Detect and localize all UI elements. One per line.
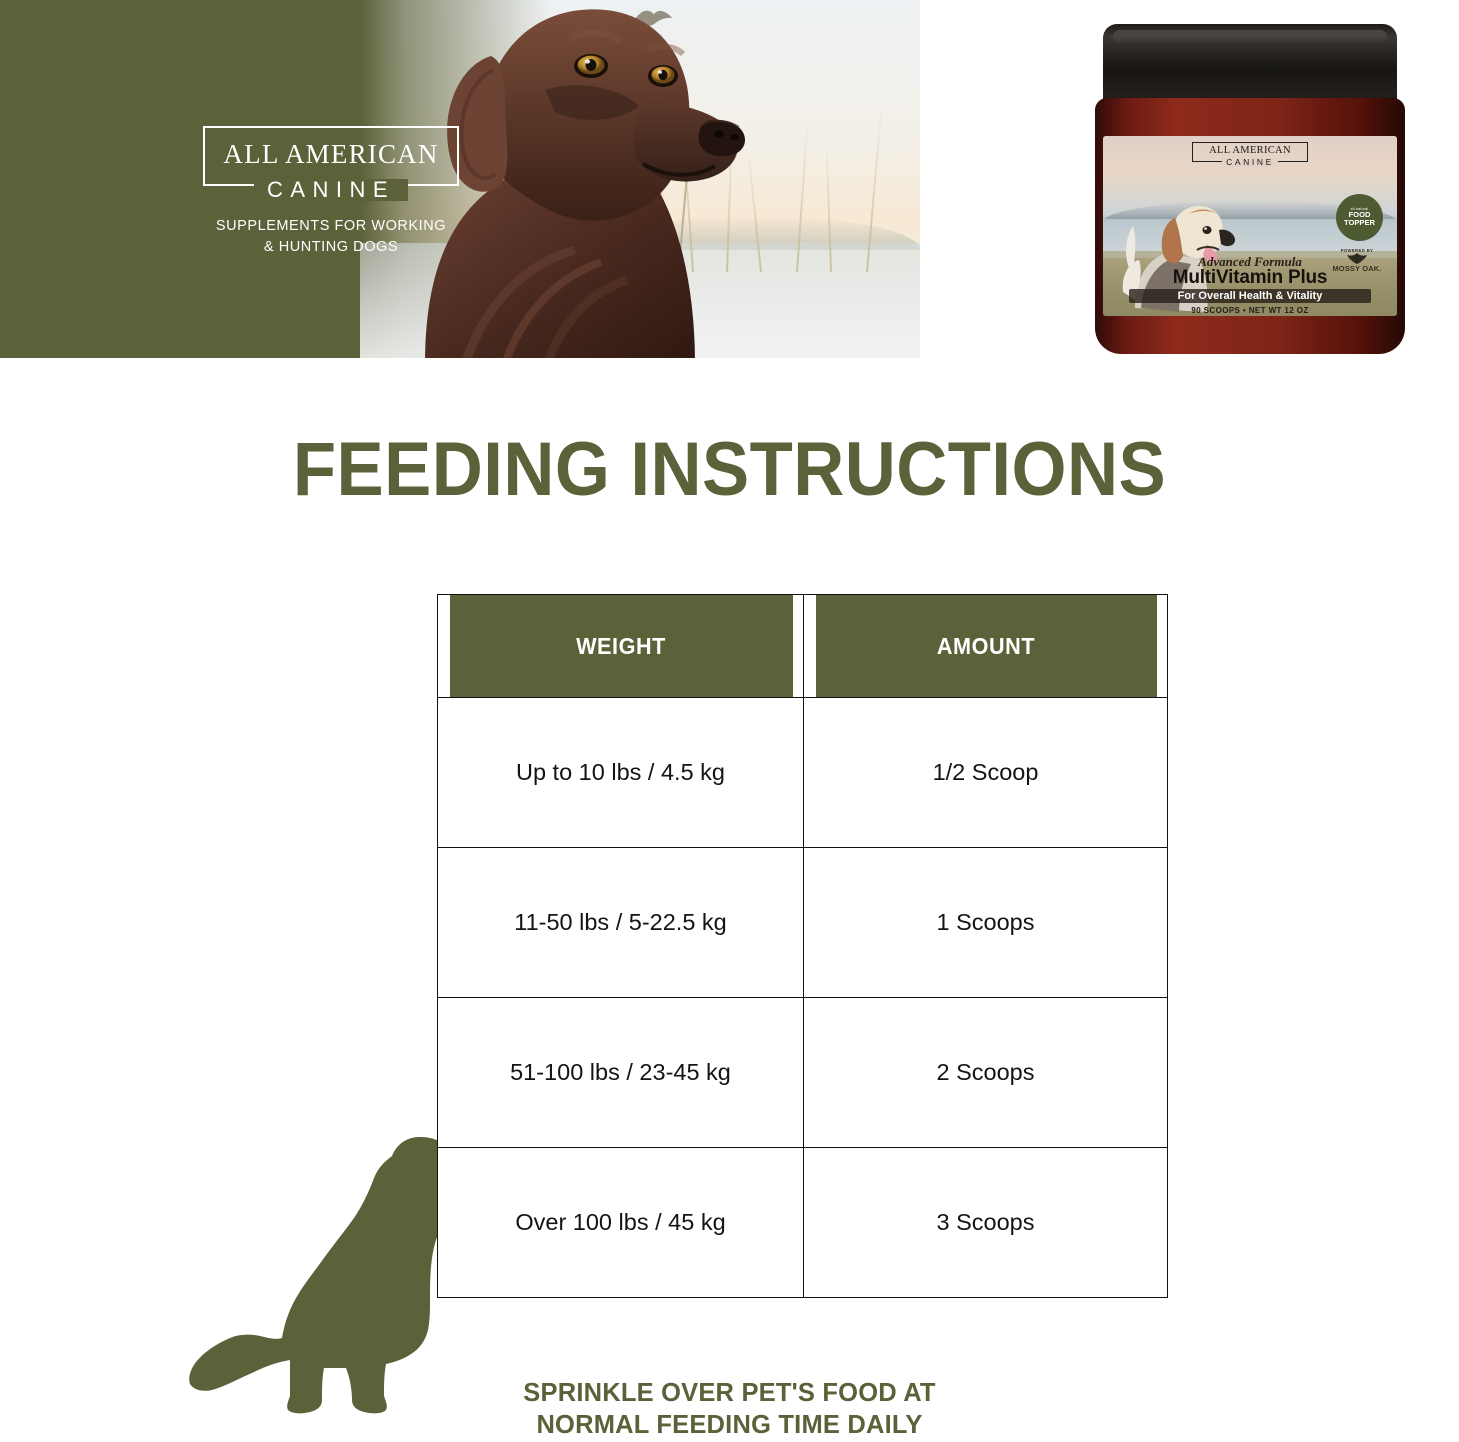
brand-tagline: SUPPLEMENTS FOR WORKING & HUNTING DOGS bbox=[203, 216, 459, 258]
cell-weight: 11-50 lbs / 5-22.5 kg bbox=[438, 848, 804, 998]
product-name-text: MultiVitamin Plus bbox=[1103, 267, 1397, 289]
cell-amount: 1 Scoops bbox=[804, 848, 1168, 998]
table-row: Up to 10 lbs / 4.5 kg 1/2 Scoop bbox=[438, 698, 1168, 848]
cell-amount: 2 Scoops bbox=[804, 998, 1168, 1148]
table-header-row: WEIGHT AMOUNT bbox=[438, 595, 1168, 698]
column-header-amount: AMOUNT bbox=[814, 595, 1156, 698]
table-row: 11-50 lbs / 5-22.5 kg 1 Scoops bbox=[438, 848, 1168, 998]
brand-tagline-line1: SUPPLEMENTS FOR WORKING bbox=[203, 216, 459, 237]
food-topper-badge: all natural FOOD TOPPER bbox=[1336, 194, 1383, 241]
jar-label-logo: ALL AMERICAN CANINE bbox=[1192, 142, 1308, 162]
badge-line2: TOPPER bbox=[1344, 219, 1375, 227]
cell-weight: 51-100 lbs / 23-45 kg bbox=[438, 998, 804, 1148]
cell-amount: 3 Scoops bbox=[804, 1148, 1168, 1298]
jar-lid bbox=[1103, 24, 1397, 106]
powered-by-text: POWERED BY bbox=[1325, 248, 1389, 253]
hero-banner: ALL AMERICAN CANINE SUPPLEMENTS FOR WORK… bbox=[0, 0, 920, 358]
feeding-instructions-page: ALL AMERICAN CANINE SUPPLEMENTS FOR WORK… bbox=[0, 0, 1459, 1442]
page-title: FEEDING INSTRUCTIONS bbox=[51, 432, 1408, 508]
brand-logo-line1: ALL AMERICAN bbox=[215, 141, 447, 168]
table-row: Over 100 lbs / 45 kg 3 Scoops bbox=[438, 1148, 1168, 1298]
jar-body: ALL AMERICAN CANINE all natural FOOD TOP… bbox=[1095, 98, 1405, 354]
jar-logo-line2: CANINE bbox=[1222, 158, 1278, 167]
net-weight-text: 90 SCOOPS • NET WT 12 OZ bbox=[1103, 306, 1397, 315]
cell-weight: Over 100 lbs / 45 kg bbox=[438, 1148, 804, 1298]
product-subtitle-text: For Overall Health & Vitality bbox=[1129, 289, 1371, 303]
brand-logo: ALL AMERICAN CANINE SUPPLEMENTS FOR WORK… bbox=[203, 126, 459, 258]
feeding-table: WEIGHT AMOUNT Up to 10 lbs / 4.5 kg 1/2 … bbox=[437, 594, 1168, 1298]
table-row: 51-100 lbs / 23-45 kg 2 Scoops bbox=[438, 998, 1168, 1148]
jar-logo-line1: ALL AMERICAN bbox=[1195, 146, 1305, 157]
cell-amount: 1/2 Scoop bbox=[804, 698, 1168, 848]
cell-weight: Up to 10 lbs / 4.5 kg bbox=[438, 698, 804, 848]
brand-logo-box: ALL AMERICAN CANINE bbox=[203, 126, 459, 186]
brand-logo-line2: CANINE bbox=[254, 179, 408, 201]
column-header-weight: WEIGHT bbox=[448, 595, 792, 698]
jar-label: ALL AMERICAN CANINE all natural FOOD TOP… bbox=[1103, 136, 1397, 316]
product-jar-image: ALL AMERICAN CANINE all natural FOOD TOP… bbox=[1095, 24, 1405, 354]
brand-tagline-line2: & HUNTING DOGS bbox=[203, 237, 459, 258]
